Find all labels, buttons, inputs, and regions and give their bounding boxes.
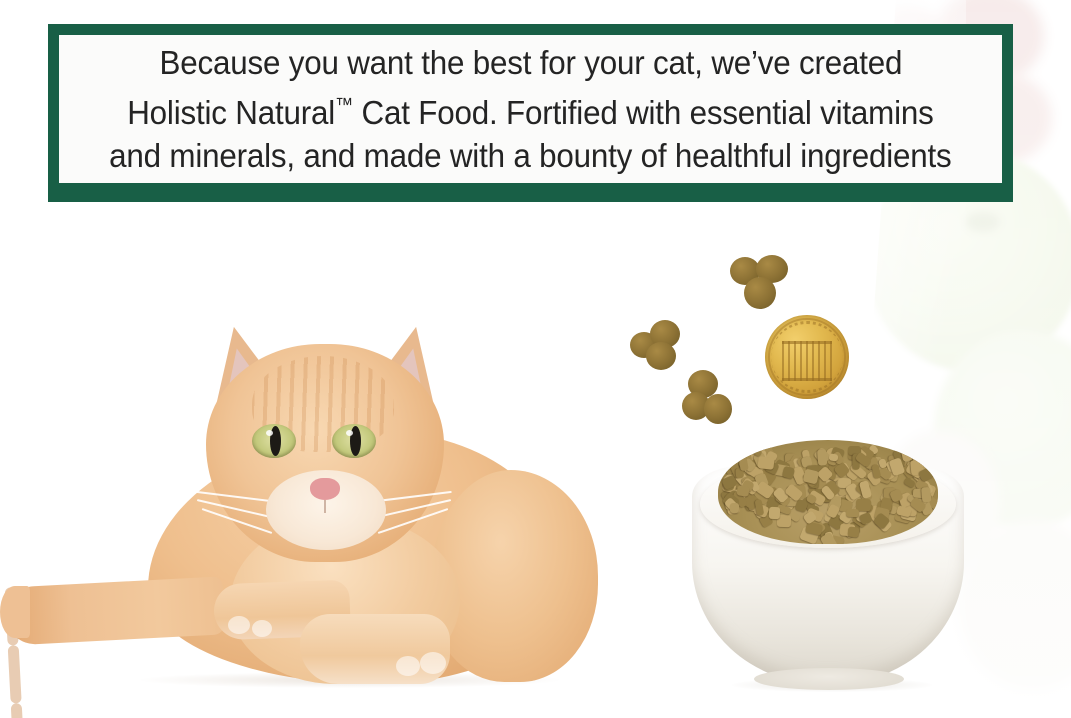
paw-toe [228, 616, 250, 634]
paw-toe [420, 652, 446, 674]
cat-nose [310, 478, 340, 500]
headline-line-2-rest: Cat Food. Fortified with essential vitam… [353, 94, 934, 131]
kibble-trefoil [630, 320, 684, 372]
kibble-trefoil [682, 370, 734, 428]
cat-tail-tip [0, 586, 30, 638]
paw-toe [252, 620, 272, 637]
cat-eye-glint [266, 430, 273, 436]
paw-toe [396, 656, 420, 676]
headline-line-2-brand: Holistic Natural [127, 94, 335, 131]
kibble-bit [856, 498, 871, 511]
kibble-bit [921, 487, 931, 502]
bowl-kibble-heap [718, 440, 938, 544]
kibble-bit [816, 449, 826, 466]
headline-box: Because you want the best for your cat, … [48, 24, 1013, 202]
orange-tabby-cat-photo [0, 320, 600, 718]
kibble-bit [730, 503, 740, 513]
tail-stripe [8, 645, 22, 703]
kibble-bit [847, 527, 859, 537]
kibble-piece [682, 370, 734, 428]
trademark-symbol: ™ [335, 95, 353, 116]
kibble-piece [730, 255, 792, 313]
coin-rim [768, 318, 846, 396]
kibble-bit [736, 485, 750, 497]
cat-front-paw-right [300, 614, 450, 684]
cat-food-ad-banner: Because you want the best for your cat, … [0, 0, 1071, 718]
kibble-bit [846, 509, 859, 518]
headline-line-3: and minerals, and made with a bounty of … [109, 134, 951, 177]
cat-food-bowl [692, 440, 964, 700]
headline-panel: Because you want the best for your cat, … [59, 35, 1002, 183]
cat-eye-glint [346, 430, 353, 436]
kibble-piece [630, 320, 684, 372]
headline-line-1: Because you want the best for your cat, … [159, 41, 902, 84]
tail-stripe [11, 703, 25, 718]
kibble-trefoil [730, 255, 792, 313]
penny-coin [765, 315, 849, 399]
kibble-bit [757, 456, 775, 470]
cat-mouth [324, 500, 326, 513]
bowl-base [754, 668, 904, 690]
kibble-bit [769, 506, 781, 518]
cat-tail [5, 576, 226, 645]
headline-line-2: Holistic Natural™ Cat Food. Fortified wi… [127, 84, 933, 134]
